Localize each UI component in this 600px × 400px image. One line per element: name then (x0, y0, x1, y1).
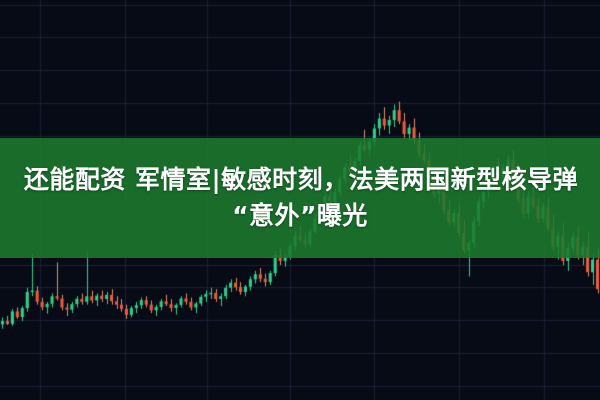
chart-screenshot: 还能配资 军情室|敏感时刻，法美两国新型核导弹 “意外”曝光 (0, 0, 600, 400)
headline-overlay-band (0, 138, 600, 258)
